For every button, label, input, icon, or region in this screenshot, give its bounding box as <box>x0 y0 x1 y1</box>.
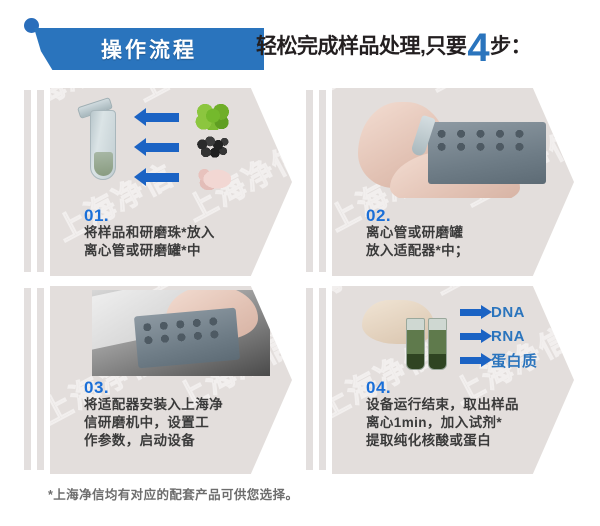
step-number: 02. <box>366 206 391 226</box>
sample-vials-icon <box>406 318 450 370</box>
arrow-right-icon <box>460 309 482 316</box>
step-01-illustration <box>50 88 292 206</box>
tube-body <box>90 110 116 180</box>
step-card-body: 上海净信 上海净信 上海净信 上海净信 <box>50 88 292 276</box>
arrow-right-icon <box>460 333 482 340</box>
step-03-photo <box>92 290 270 376</box>
step-description: 离心管或研磨罐 放入适配器*中； <box>366 224 469 260</box>
leaf-sample-icon <box>195 104 231 130</box>
card-accent-bar-outer <box>24 90 31 272</box>
step-description: 将适配器安装入上海净 信研磨机中，设置工 作参数，启动设备 <box>84 396 223 449</box>
card-accent-bar-outer <box>306 90 313 272</box>
step-number: 04. <box>366 378 391 398</box>
card-accent-bar-inner <box>37 288 44 470</box>
adapter-block-icon <box>134 308 240 369</box>
page-header: 操作流程 轻松完成样品处理,只要 4 步： <box>0 0 600 86</box>
headline-step-count: 4 <box>467 32 489 64</box>
output-row-dna: DNA <box>460 300 570 324</box>
vial-2 <box>428 318 447 370</box>
footer-note: *上海净信均有对应的配套产品可供您选择。 <box>48 484 568 503</box>
card-accent-bar-outer <box>24 288 31 470</box>
arrow-left-icon <box>145 113 179 122</box>
animal-tissue-icon <box>195 164 231 190</box>
headline-suffix: 步： <box>490 30 531 60</box>
tube-liquid <box>94 152 113 176</box>
arrow-left-icon <box>145 143 179 152</box>
grinding-beads-icon <box>195 134 231 160</box>
banner-label: 操作流程 <box>34 28 264 70</box>
sample-row-tissue <box>145 166 285 188</box>
step-description: 将样品和研磨珠*放入 离心管或研磨罐*中 <box>84 224 215 260</box>
arrow-right-icon <box>460 357 482 364</box>
card-accent-bar-inner <box>37 90 44 272</box>
output-label: RNA <box>491 328 525 345</box>
step-number: 01. <box>84 206 109 226</box>
centrifuge-tube-icon <box>90 102 116 180</box>
adapter-block-holes <box>139 312 233 346</box>
card-accent-bar-inner <box>319 288 326 470</box>
output-row-protein: 蛋白质 <box>460 348 570 372</box>
adapter-block-icon <box>428 122 546 184</box>
arrow-left-icon <box>145 173 179 182</box>
steps-grid: 上海净信 上海净信 上海净信 上海净信 <box>0 86 600 476</box>
step-card-04: 上海净信 上海净信 上海净信 上海净信 DNA <box>306 286 574 474</box>
step-02-photo <box>354 94 550 198</box>
step-04-photo <box>362 296 458 372</box>
step-card-02: 上海净信 上海净信 上海净信 上海净信 02. 离心管或研磨罐 放入适配器*中； <box>306 88 574 276</box>
step-number: 03. <box>84 378 109 398</box>
vial-1 <box>406 318 425 370</box>
card-accent-bar-inner <box>319 90 326 272</box>
step-card-01: 上海净信 上海净信 上海净信 上海净信 <box>24 88 292 276</box>
sample-row-beads <box>145 136 285 158</box>
step-description: 设备运行结束，取出样品 离心1min，加入试剂* 提取纯化核酸或蛋白 <box>366 396 519 449</box>
infographic-page: 操作流程 轻松完成样品处理,只要 4 步： 上海净信 上海净信 上海净信 上海净… <box>0 0 600 526</box>
headline-prefix: 轻松完成样品处理,只要 <box>256 30 466 60</box>
output-label: DNA <box>491 304 525 321</box>
card-accent-bar-outer <box>306 288 313 470</box>
step-card-body: 上海净信 上海净信 上海净信 上海净信 DNA <box>332 286 574 474</box>
step-card-body: 上海净信 上海净信 上海净信 上海净信 03. 将适配器安装入上海净 信研磨机中… <box>50 286 292 474</box>
output-row-rna: RNA <box>460 324 570 348</box>
output-label: 蛋白质 <box>491 350 538 371</box>
step-card-03: 上海净信 上海净信 上海净信 上海净信 03. 将适配器安装入上海净 信研磨机中… <box>24 286 292 474</box>
adapter-block-holes <box>433 126 541 152</box>
step-04-outputs: DNA RNA 蛋白质 <box>460 300 570 372</box>
step-card-body: 上海净信 上海净信 上海净信 上海净信 02. 离心管或研磨罐 放入适配器*中； <box>332 88 574 276</box>
sample-row-leaf <box>145 106 285 128</box>
page-title: 轻松完成样品处理,只要 4 步： <box>256 22 531 68</box>
section-banner: 操作流程 <box>24 18 264 70</box>
